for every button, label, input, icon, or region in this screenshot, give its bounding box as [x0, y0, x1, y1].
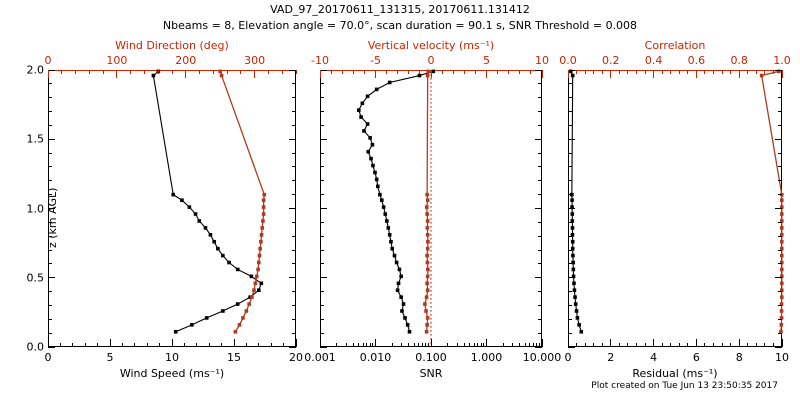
data-point [216, 247, 220, 251]
plot-created-footer: Plot created on Tue Jun 13 23:50:35 2017 [0, 381, 800, 391]
y-minor-tick [568, 305, 572, 306]
x-minor-tick-bottom [464, 343, 465, 347]
x-minor-tick-bottom [414, 343, 415, 347]
y-minor-tick [778, 125, 782, 126]
data-point [432, 70, 436, 74]
y-minor-tick [320, 194, 324, 195]
y-minor-tick [538, 153, 542, 154]
x-minor-tick-bottom [85, 343, 86, 347]
x-major-tick-top [185, 70, 186, 78]
x-major-tick-top [320, 70, 321, 78]
y-minor-tick [48, 83, 52, 84]
data-point [258, 254, 262, 258]
x-minor-tick-top [408, 70, 409, 74]
data-point [400, 309, 404, 313]
data-point [236, 302, 240, 306]
x-tick-label-top: 0 [45, 54, 52, 67]
data-point [259, 240, 263, 244]
data-point [571, 226, 575, 230]
data-point [250, 295, 254, 299]
data-point [575, 309, 579, 313]
data-point [397, 281, 401, 285]
y-tick-label: 1.5 [27, 133, 45, 146]
x-major-tick-top [782, 70, 783, 78]
y-minor-tick [48, 111, 52, 112]
x-major-tick-bottom [653, 339, 654, 347]
y-minor-tick [538, 111, 542, 112]
y-minor-tick [538, 333, 542, 334]
panel-wind: z (km AGL) 0.00.51.01.52.005101520Wind S… [48, 70, 296, 347]
y-minor-tick [320, 333, 324, 334]
x-minor-tick-bottom [645, 343, 646, 347]
data-point [398, 268, 402, 272]
y-minor-tick [320, 125, 324, 126]
x-minor-tick-bottom [246, 343, 247, 347]
x-tick-label-bottom: 0.100 [415, 351, 447, 364]
y-minor-tick [568, 250, 572, 251]
x-minor-tick-bottom [525, 343, 526, 347]
data-point [393, 254, 397, 258]
x-major-tick-bottom [782, 339, 783, 347]
x-minor-tick-bottom [122, 343, 123, 347]
y-minor-tick [778, 263, 782, 264]
y-major-tick [48, 139, 55, 140]
x-major-tick-top [431, 70, 432, 78]
x-tick-label-bottom: 10 [165, 351, 179, 364]
data-point [426, 226, 430, 230]
y-minor-tick [568, 153, 572, 154]
x-minor-tick-top [619, 70, 620, 74]
data-point [426, 268, 430, 272]
y-tick-label: 0.5 [27, 271, 45, 284]
data-point [385, 219, 389, 223]
x-minor-tick-bottom [722, 343, 723, 347]
y-minor-tick [538, 180, 542, 181]
data-point [221, 254, 225, 258]
x-minor-tick-bottom [576, 343, 577, 347]
data-point [408, 330, 412, 334]
data-point [426, 219, 430, 223]
x-minor-tick-top [519, 70, 520, 74]
y-major-tick [320, 277, 327, 278]
y-minor-tick [48, 125, 52, 126]
x-major-tick-bottom [431, 339, 432, 347]
x-tick-label-bottom: 10 [775, 351, 789, 364]
y-minor-tick [538, 305, 542, 306]
data-point [760, 74, 764, 78]
y-minor-tick [538, 97, 542, 98]
y-minor-tick [778, 83, 782, 84]
data-point [425, 323, 429, 327]
x-minor-tick-bottom [353, 343, 354, 347]
x-minor-tick-bottom [370, 343, 371, 347]
x-minor-tick-bottom [602, 343, 603, 347]
y-minor-tick [538, 125, 542, 126]
data-point [425, 193, 429, 197]
y-minor-tick [778, 236, 782, 237]
data-point [570, 212, 574, 216]
y-major-tick [568, 347, 575, 348]
y-minor-tick [48, 153, 52, 154]
x-minor-tick-top [268, 70, 269, 74]
x-major-tick-top [653, 70, 654, 78]
y-minor-tick [320, 305, 324, 306]
y-minor-tick [292, 153, 296, 154]
x-tick-label-top: 0.8 [730, 54, 748, 67]
y-major-tick [289, 139, 296, 140]
data-point [780, 281, 784, 285]
x-minor-tick-bottom [184, 343, 185, 347]
y-minor-tick [568, 111, 572, 112]
y-minor-tick [320, 291, 324, 292]
x-axis-title-top: Wind Direction (deg) [115, 39, 229, 52]
x-major-tick-bottom [48, 339, 49, 347]
x-minor-tick-top [497, 70, 498, 74]
data-point [362, 129, 366, 133]
data-point [780, 309, 784, 313]
x-major-tick-bottom [172, 339, 173, 347]
x-minor-tick-bottom [469, 343, 470, 347]
x-major-tick-top [116, 70, 117, 78]
data-point [425, 212, 429, 216]
x-tick-label-top: 200 [175, 54, 196, 67]
data-point [205, 316, 209, 320]
y-minor-tick [48, 97, 52, 98]
x-minor-tick-bottom [401, 343, 402, 347]
x-minor-tick-bottom [756, 343, 757, 347]
x-major-tick-bottom [486, 339, 487, 347]
vad-plot-figure: VAD_97_20170611_131315, 20170611.131412 … [0, 0, 800, 400]
data-point [573, 288, 577, 292]
data-point [426, 316, 430, 320]
x-minor-tick-top [103, 70, 104, 74]
data-point [425, 295, 429, 299]
x-minor-tick-bottom [447, 343, 448, 347]
y-minor-tick [320, 153, 324, 154]
data-point [174, 330, 178, 334]
y-minor-tick [292, 319, 296, 320]
data-point [425, 254, 429, 258]
data-point [357, 108, 361, 112]
data-point [258, 247, 262, 251]
data-point [406, 323, 410, 327]
x-tick-label-bottom: 0 [45, 351, 52, 364]
y-minor-tick [778, 250, 782, 251]
x-axis-title-bottom: Wind Speed (ms⁻¹) [120, 367, 224, 380]
y-minor-tick [292, 83, 296, 84]
x-minor-tick-top [475, 70, 476, 74]
y-minor-tick [538, 83, 542, 84]
x-tick-label-bottom: 8 [736, 351, 743, 364]
y-minor-tick [48, 194, 52, 195]
x-minor-tick-bottom [418, 343, 419, 347]
data-point [190, 323, 194, 327]
y-major-tick [48, 277, 55, 278]
data-point [227, 261, 231, 265]
x-minor-tick-bottom [159, 343, 160, 347]
y-minor-tick [48, 236, 52, 237]
data-point [574, 302, 578, 306]
x-major-tick-bottom [375, 339, 376, 347]
y-minor-tick [778, 222, 782, 223]
data-point [262, 198, 266, 202]
x-major-tick-top [486, 70, 487, 78]
figure-title: VAD_97_20170611_131315, 20170611.131412 [0, 3, 800, 16]
y-minor-tick [320, 250, 324, 251]
x-major-tick-top [542, 70, 543, 78]
x-minor-tick-top [89, 70, 90, 74]
x-major-tick-top [739, 70, 740, 78]
x-minor-tick-bottom [346, 343, 347, 347]
x-minor-tick-bottom [585, 343, 586, 347]
x-tick-label-top: 5 [483, 54, 490, 67]
x-minor-tick-top [419, 70, 420, 74]
x-tick-label-bottom: 0 [565, 351, 572, 364]
y-minor-tick [292, 194, 296, 195]
x-major-tick-bottom [320, 339, 321, 347]
x-minor-tick-top [756, 70, 757, 74]
x-minor-tick-bottom [539, 343, 540, 347]
y-minor-tick [778, 319, 782, 320]
y-minor-tick [538, 166, 542, 167]
y-tick-label: 0.0 [27, 341, 45, 354]
y-minor-tick [48, 291, 52, 292]
y-major-tick [568, 139, 575, 140]
x-minor-tick-bottom [372, 343, 373, 347]
data-point [383, 212, 387, 216]
x-tick-label-top: 0.6 [688, 54, 706, 67]
x-tick-label-top: 300 [244, 54, 265, 67]
x-minor-tick-bottom [147, 343, 148, 347]
data-point [780, 240, 784, 244]
y-tick-label: 2.0 [27, 64, 45, 77]
x-major-tick-top [48, 70, 49, 78]
data-point [238, 323, 242, 327]
data-point [577, 323, 581, 327]
data-point [425, 205, 429, 209]
panel-snr: 0.0010.0100.1001.00010.000SNR-10-50510Ve… [320, 70, 542, 347]
data-point [382, 205, 386, 209]
y-major-tick [320, 139, 327, 140]
y-minor-tick [48, 222, 52, 223]
x-major-tick-bottom [296, 339, 297, 347]
y-minor-tick [320, 222, 324, 223]
y-minor-tick [292, 208, 296, 209]
x-minor-tick-bottom [519, 343, 520, 347]
x-minor-tick-top [386, 70, 387, 74]
y-major-tick [775, 277, 782, 278]
y-minor-tick [320, 180, 324, 181]
x-minor-tick-top [144, 70, 145, 74]
x-minor-tick-bottom [336, 343, 337, 347]
x-minor-tick-bottom [258, 343, 259, 347]
data-point [188, 205, 192, 209]
data-point [262, 205, 266, 209]
x-minor-tick-top [713, 70, 714, 74]
x-tick-label-bottom: 10.000 [523, 351, 562, 364]
x-minor-tick-bottom [363, 343, 364, 347]
y-minor-tick [568, 97, 572, 98]
x-major-tick-top [568, 70, 569, 78]
x-minor-tick-bottom [483, 343, 484, 347]
y-minor-tick [48, 333, 52, 334]
x-minor-tick-top [508, 70, 509, 74]
x-tick-label-bottom: 0.001 [304, 351, 336, 364]
y-minor-tick [568, 83, 572, 84]
data-point [425, 281, 429, 285]
y-major-tick [48, 347, 55, 348]
x-minor-tick-bottom [730, 343, 731, 347]
y-minor-tick [778, 166, 782, 167]
x-minor-tick-top [773, 70, 774, 74]
y-minor-tick [292, 333, 296, 334]
y-minor-tick [292, 111, 296, 112]
y-major-tick [535, 277, 542, 278]
data-point [418, 74, 422, 78]
x-minor-tick-top [602, 70, 603, 74]
data-point [260, 226, 264, 230]
y-minor-tick [538, 291, 542, 292]
x-minor-tick-top [282, 70, 283, 74]
y-minor-tick [320, 97, 324, 98]
x-minor-tick-top [722, 70, 723, 74]
data-point [572, 268, 576, 272]
data-point [386, 226, 390, 230]
data-point [426, 261, 430, 265]
y-major-tick [320, 347, 327, 348]
x-major-tick-top [610, 70, 611, 78]
x-tick-label-bottom: 1.000 [471, 351, 503, 364]
x-tick-label-bottom: 0.010 [360, 351, 392, 364]
x-minor-tick-bottom [704, 343, 705, 347]
data-point [426, 70, 430, 74]
y-minor-tick [48, 263, 52, 264]
data-point [263, 193, 267, 197]
data-point [579, 330, 583, 334]
y-major-tick [568, 70, 575, 71]
data-point [780, 212, 784, 216]
x-tick-label-bottom: 2 [607, 351, 614, 364]
y-minor-tick [48, 208, 52, 209]
x-minor-tick-bottom [134, 343, 135, 347]
data-point [359, 115, 363, 119]
y-minor-tick [778, 111, 782, 112]
y-major-tick [48, 70, 55, 71]
data-point [376, 185, 380, 189]
x-minor-tick-bottom [636, 343, 637, 347]
x-minor-tick-bottom [457, 343, 458, 347]
data-point [573, 295, 577, 299]
x-major-tick-bottom [234, 339, 235, 347]
x-tick-label-top: 10 [535, 54, 549, 67]
y-tick-label: 1.0 [27, 202, 45, 215]
data-point [780, 295, 784, 299]
data-point [424, 309, 428, 313]
x-minor-tick-bottom [679, 343, 680, 347]
x-minor-tick-top [645, 70, 646, 74]
panel-residual: 0246810Residual (ms⁻¹)0.00.20.40.60.81.0… [568, 70, 782, 347]
y-major-tick [535, 139, 542, 140]
data-point [425, 330, 429, 334]
data-point [399, 275, 403, 279]
data-point [236, 268, 240, 272]
x-minor-tick-bottom [428, 343, 429, 347]
x-minor-tick-top [296, 70, 297, 74]
data-point [252, 288, 256, 292]
x-minor-tick-bottom [221, 343, 222, 347]
x-minor-tick-bottom [764, 343, 765, 347]
data-point [361, 101, 365, 105]
panel-residual-plot [568, 70, 800, 220]
x-minor-tick-top [342, 70, 343, 74]
x-axis-title-bottom: SNR [420, 367, 443, 380]
y-minor-tick [48, 180, 52, 181]
x-minor-tick-bottom [97, 343, 98, 347]
x-minor-tick-bottom [593, 343, 594, 347]
data-point [780, 226, 784, 230]
x-minor-tick-top [662, 70, 663, 74]
data-point [366, 122, 370, 126]
x-minor-tick-bottom [408, 343, 409, 347]
data-point [245, 309, 249, 313]
data-point [204, 226, 208, 230]
x-minor-tick-top [670, 70, 671, 74]
x-axis-title-bottom: Residual (ms⁻¹) [632, 367, 717, 380]
x-minor-tick-top [227, 70, 228, 74]
x-minor-tick-top [61, 70, 62, 74]
data-point [403, 316, 407, 320]
figure-subtitle: Nbeams = 8, Elevation angle = 70.0°, sca… [0, 19, 800, 32]
y-minor-tick [292, 291, 296, 292]
x-minor-tick-top [730, 70, 731, 74]
x-major-tick-bottom [568, 339, 569, 347]
x-minor-tick-top [172, 70, 173, 74]
y-minor-tick [568, 319, 572, 320]
x-minor-tick-top [353, 70, 354, 74]
y-minor-tick [568, 180, 572, 181]
x-minor-tick-top [627, 70, 628, 74]
x-tick-label-top: 1.0 [773, 54, 791, 67]
data-point [426, 275, 430, 279]
x-minor-tick-top [364, 70, 365, 74]
x-minor-tick-bottom [477, 343, 478, 347]
y-minor-tick [568, 263, 572, 264]
y-minor-tick [538, 263, 542, 264]
y-minor-tick [48, 319, 52, 320]
x-minor-tick-bottom [533, 343, 534, 347]
data-point [572, 281, 576, 285]
y-minor-tick [292, 263, 296, 264]
data-point [388, 233, 392, 237]
x-tick-label-bottom: 20 [289, 351, 303, 364]
x-tick-label-top: 0 [428, 54, 435, 67]
data-point [423, 302, 427, 306]
x-major-tick-top [375, 70, 376, 78]
data-point [369, 157, 373, 161]
x-minor-tick-top [397, 70, 398, 74]
x-major-tick-bottom [739, 339, 740, 347]
x-minor-tick-bottom [529, 343, 530, 347]
x-minor-tick-top [704, 70, 705, 74]
x-minor-tick-top [585, 70, 586, 74]
data-point [256, 268, 260, 272]
x-minor-tick-top [75, 70, 76, 74]
data-point [426, 240, 430, 244]
x-minor-tick-bottom [536, 343, 537, 347]
y-minor-tick [538, 222, 542, 223]
x-major-tick-bottom [696, 339, 697, 347]
data-point [390, 247, 394, 251]
